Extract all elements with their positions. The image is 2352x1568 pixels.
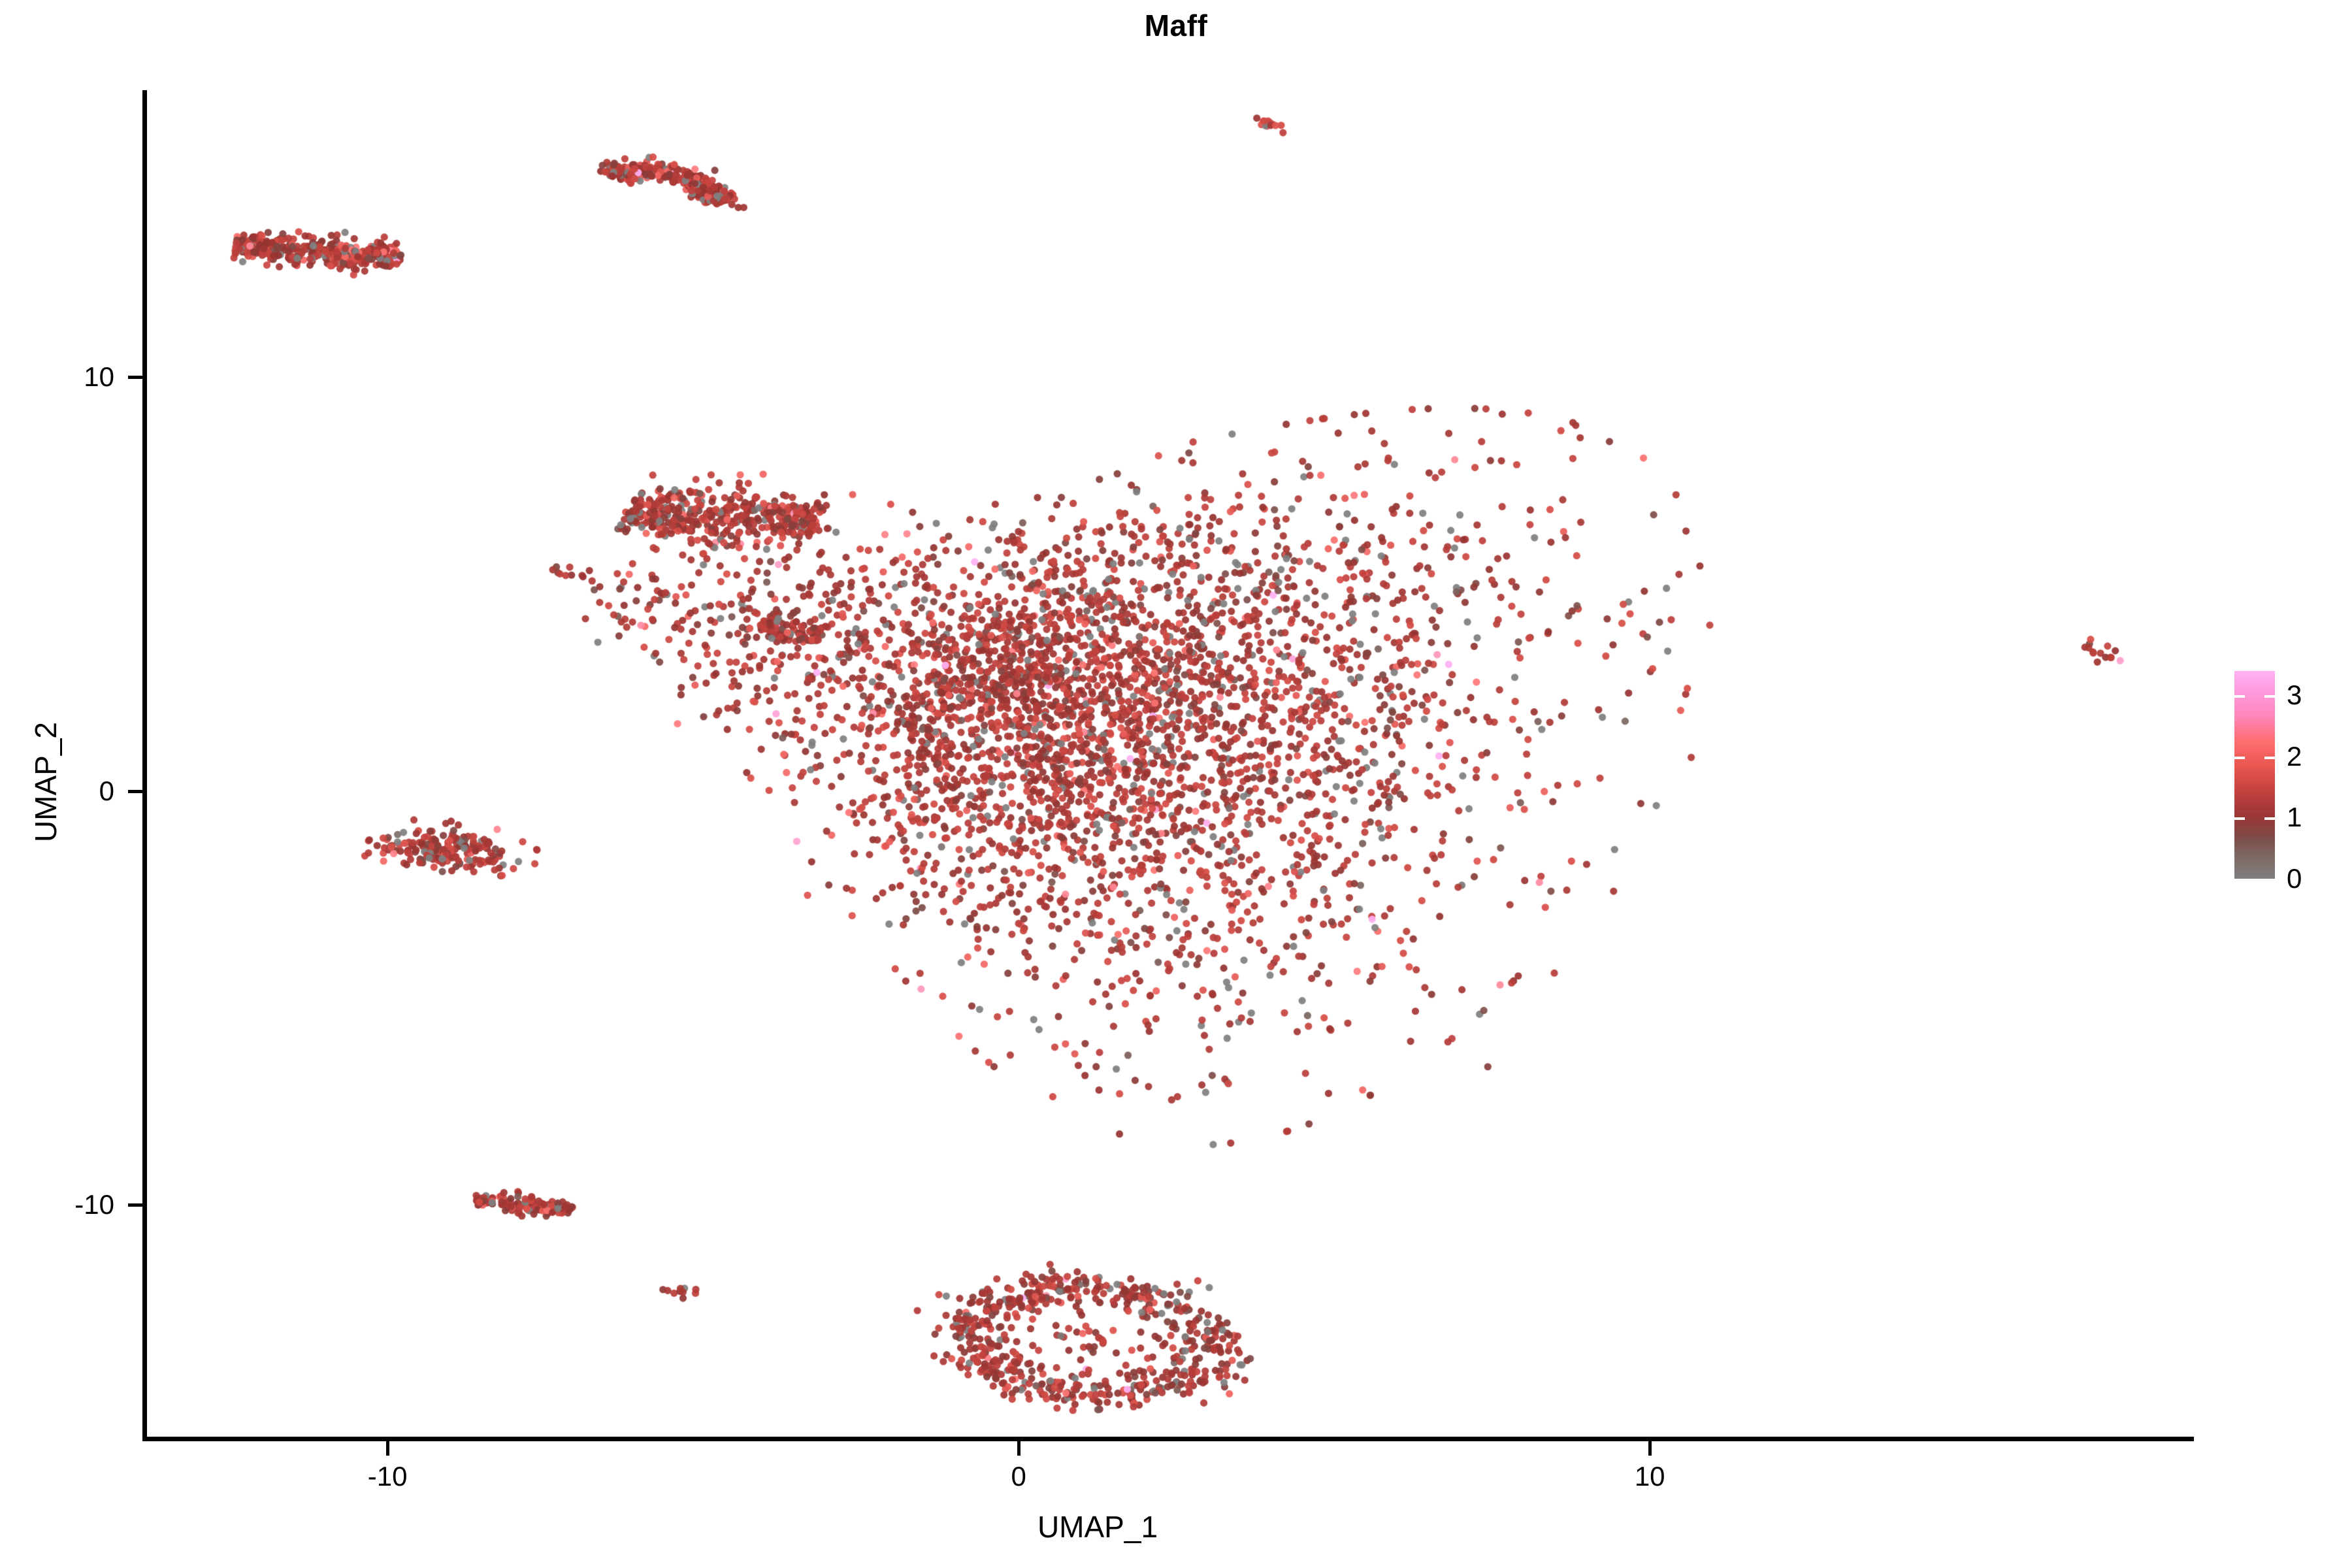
x-tick-mark (386, 1441, 389, 1456)
x-tick-label: 10 (1635, 1461, 1665, 1492)
page-title: Maff (0, 8, 2352, 43)
umap-feature-plot: Maff UMAP_2 UMAP_1 -10010-10010 0123 (0, 0, 2352, 1568)
y-axis-line (142, 90, 147, 1441)
colorbar-gradient (2234, 671, 2275, 879)
y-axis-title: UMAP_2 (28, 697, 63, 867)
colorbar-legend: 0123 (2234, 671, 2339, 887)
scatter-points-layer (148, 91, 2193, 1437)
y-tick-mark (128, 1203, 142, 1207)
y-tick-label: 10 (84, 361, 114, 393)
colorbar-tick-label: 0 (2287, 863, 2302, 894)
x-tick-mark (1017, 1441, 1021, 1456)
y-tick-label: 0 (99, 776, 114, 807)
y-tick-label: -10 (74, 1189, 114, 1220)
x-tick-label: -10 (368, 1461, 408, 1492)
x-axis-title: UMAP_1 (0, 1509, 2195, 1544)
plot-panel (148, 91, 2193, 1437)
y-tick-mark (128, 376, 142, 379)
y-tick-mark (128, 790, 142, 793)
x-tick-label: 0 (1011, 1461, 1026, 1492)
colorbar-tick-label: 2 (2287, 741, 2302, 772)
x-axis-line (142, 1437, 2194, 1441)
colorbar-tick-label: 3 (2287, 679, 2302, 711)
x-tick-mark (1648, 1441, 1652, 1456)
colorbar-tick-label: 1 (2287, 802, 2302, 833)
